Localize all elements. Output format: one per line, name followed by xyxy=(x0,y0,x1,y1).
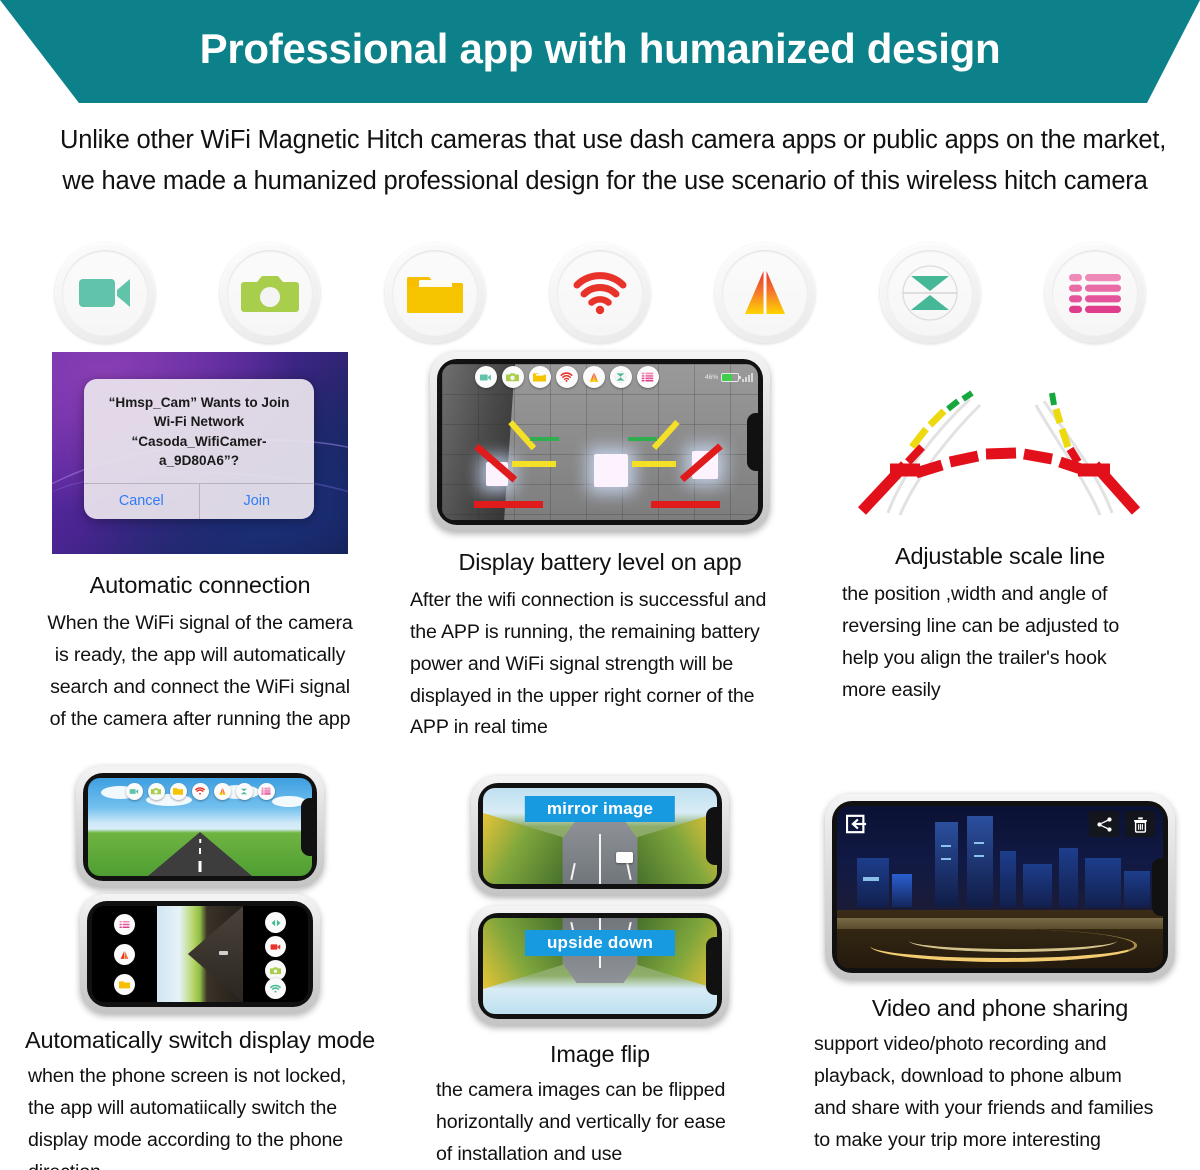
gallery-screen xyxy=(837,806,1163,968)
menu-settings-icon xyxy=(1067,271,1123,315)
mirror-flip-icon xyxy=(737,268,793,318)
intro-line-2: we have made a humanized professional de… xyxy=(60,161,1150,202)
phone-rotated-portrait-mode xyxy=(80,894,320,1014)
card-body-line: help you align the trailer's hook xyxy=(842,643,1200,675)
card-video-phone-sharing: Video and phone sharing support video/ph… xyxy=(800,766,1200,1170)
card-body-line: the APP is running, the remaining batter… xyxy=(410,617,800,649)
alert-line-2: Wi-Fi Network xyxy=(94,412,304,431)
menu-settings-icon-badge[interactable] xyxy=(1045,243,1145,343)
card-body-line: displayed in the upper right corner of t… xyxy=(410,681,800,713)
card-body-line: to make your trip more interesting xyxy=(814,1125,1200,1157)
intro-line-1: Unlike other WiFi Magnetic Hitch cameras… xyxy=(60,120,1150,161)
app-toolbar xyxy=(88,778,312,804)
feature-icon-row xyxy=(55,240,1145,346)
alert-buttons: Cancel Join xyxy=(84,483,314,519)
vertical-flip-icon-badge[interactable] xyxy=(236,783,253,800)
scale-line-green xyxy=(530,437,558,441)
card-title: Display battery level on app xyxy=(400,548,800,577)
join-button[interactable]: Join xyxy=(199,484,315,519)
card-body-line: playback, download to phone album xyxy=(814,1061,1200,1093)
center-marker xyxy=(219,951,228,955)
infographic-page: Professional app with humanized design U… xyxy=(0,0,1200,1170)
phone-side-notch xyxy=(706,937,722,995)
back-arrow-icon xyxy=(846,814,868,834)
card-body-line: search and connect the WiFi signal xyxy=(0,672,400,704)
trash-icon xyxy=(1133,816,1148,833)
card-automatic-connection: “Hmsp_Cam” Wants to Join Wi-Fi Network “… xyxy=(0,352,400,744)
vertical-flip-icon xyxy=(270,918,282,928)
phone-side-notch xyxy=(301,798,317,856)
photo-camera-icon xyxy=(506,372,519,382)
app-rotated-screen xyxy=(92,906,308,1002)
road-vee xyxy=(188,906,243,1002)
vertical-flip-icon xyxy=(899,265,961,321)
vertical-flip-icon xyxy=(614,371,627,383)
back-button[interactable] xyxy=(842,811,872,837)
menu-settings-icon xyxy=(641,372,654,382)
mirror-image-screen: mirror image xyxy=(483,788,717,884)
card-body-line: When the WiFi signal of the camera xyxy=(0,608,400,640)
card-body: When the WiFi signal of the camera is re… xyxy=(0,608,400,735)
upside-down-label: upside down xyxy=(525,930,675,956)
app-toolbar: 46% xyxy=(442,364,758,390)
menu-settings-icon-badge[interactable] xyxy=(637,366,659,388)
scale-line-green xyxy=(628,437,656,441)
phone-mirror-image: mirror image xyxy=(471,776,729,896)
card-body: the camera images can be flipped horizon… xyxy=(400,1075,800,1170)
mirror-flip-icon xyxy=(588,372,600,383)
mirror-flip-icon-badge[interactable] xyxy=(214,783,231,800)
scale-line-yellow xyxy=(512,461,556,467)
app-road-screen xyxy=(88,778,312,876)
photo-camera-icon xyxy=(241,271,299,315)
light-glare xyxy=(594,454,628,487)
alert-line-1: “Hmsp_Cam” Wants to Join xyxy=(94,393,304,412)
mirror-flip-icon xyxy=(119,950,130,960)
wifi-icon-badge[interactable] xyxy=(192,783,209,800)
photo-camera-icon-badge[interactable] xyxy=(502,366,524,388)
card-auto-switch-display-mode: Automatically switch display mode when t… xyxy=(0,766,400,1170)
upside-down-screen: upside down xyxy=(483,918,717,1014)
mirror-flip-icon-badge[interactable] xyxy=(715,243,815,343)
status-indicators: 46% xyxy=(705,372,758,382)
card-body-line: support video/photo recording and xyxy=(814,1029,1200,1061)
folder-icon-badge[interactable] xyxy=(114,974,135,995)
card-body-line: of installation and use xyxy=(436,1139,800,1170)
card-title: Automatically switch display mode xyxy=(0,1026,400,1055)
folder-icon-badge[interactable] xyxy=(170,783,187,800)
phone-upside-down-image: upside down xyxy=(471,906,729,1026)
battery-icon xyxy=(721,373,739,382)
battery-percent-label: 46% xyxy=(705,374,718,381)
page-title: Professional app with humanized design xyxy=(200,28,1001,70)
menu-settings-icon-badge[interactable] xyxy=(114,914,135,935)
card-adjustable-scale-line: Adjustable scale line the position ,widt… xyxy=(800,352,1200,744)
wifi-icon-badge[interactable] xyxy=(265,978,286,999)
app-camera-screen: 46% xyxy=(442,364,758,520)
wifi-join-screenshot: “Hmsp_Cam” Wants to Join Wi-Fi Network “… xyxy=(52,352,348,554)
bus xyxy=(616,852,633,863)
menu-settings-icon-badge[interactable] xyxy=(258,783,275,800)
folder-icon-badge[interactable] xyxy=(385,243,485,343)
folder-icon xyxy=(173,787,183,795)
card-body-line: reversing line can be adjusted to xyxy=(842,611,1200,643)
wifi-icon xyxy=(572,271,628,315)
cards-row-2: Automatically switch display mode when t… xyxy=(0,766,1200,1170)
rotated-layout xyxy=(92,906,308,1002)
video-record-icon xyxy=(270,943,281,951)
folder-icon xyxy=(533,372,546,382)
mirror-image-label: mirror image xyxy=(525,796,675,822)
alert-message: “Hmsp_Cam” Wants to Join Wi-Fi Network “… xyxy=(84,379,314,483)
wifi-icon-badge[interactable] xyxy=(550,243,650,343)
phone-side-notch xyxy=(706,807,722,865)
photo-camera-icon xyxy=(151,787,161,795)
share-button[interactable] xyxy=(1089,811,1119,837)
card-body-line: the app will automatiically switch the xyxy=(28,1093,400,1125)
rotated-camera-view xyxy=(157,906,243,1002)
scale-line-red xyxy=(651,501,721,508)
menu-settings-icon xyxy=(261,787,271,795)
folder-icon-badge[interactable] xyxy=(529,366,551,388)
folder-icon xyxy=(407,271,463,315)
phone-gallery-playback xyxy=(825,794,1175,980)
card-body: the position ,width and angle of reversi… xyxy=(800,579,1200,706)
vertical-flip-icon-badge[interactable] xyxy=(610,366,632,388)
card-title: Video and phone sharing xyxy=(800,994,1200,1023)
video-record-icon-badge[interactable] xyxy=(126,783,143,800)
phone-side-notch xyxy=(1152,858,1168,916)
card-body-line: the position ,width and angle of xyxy=(842,579,1200,611)
signal-bars-icon xyxy=(742,372,753,382)
video-record-icon-badge[interactable] xyxy=(475,366,497,388)
card-display-battery-level: 46% Display battery level on app After t… xyxy=(400,352,800,744)
mirror-flip-icon-badge[interactable] xyxy=(114,944,135,965)
card-body-line: more easily xyxy=(842,675,1200,707)
folder-icon xyxy=(119,980,130,989)
card-title: Adjustable scale line xyxy=(800,542,1200,571)
phone-camera-preview: 46% xyxy=(430,352,770,532)
wifi-icon xyxy=(270,984,281,993)
alert-line-3: “Casoda_WifiCamer- xyxy=(94,432,304,451)
card-title: Image flip xyxy=(400,1040,800,1069)
scale-line-red xyxy=(474,501,544,508)
cards-row-1: “Hmsp_Cam” Wants to Join Wi-Fi Network “… xyxy=(0,352,1200,744)
vertical-flip-icon-badge[interactable] xyxy=(265,912,286,933)
cancel-button[interactable]: Cancel xyxy=(84,484,199,519)
phone-landscape-road xyxy=(76,766,324,888)
photo-camera-icon xyxy=(270,966,281,975)
card-body-line: is ready, the app will automatically xyxy=(0,640,400,672)
video-record-icon-badge[interactable] xyxy=(55,243,155,343)
card-body-line: the camera images can be flipped xyxy=(436,1075,800,1107)
vertical-flip-icon xyxy=(239,787,249,796)
vertical-flip-icon-badge[interactable] xyxy=(880,243,980,343)
scale-line-diagram xyxy=(830,377,1170,527)
mirror-flip-icon-badge[interactable] xyxy=(583,366,605,388)
card-body-line: After the wifi connection is successful … xyxy=(410,585,800,617)
card-body-line: power and WiFi signal strength will be xyxy=(410,649,800,681)
share-icon xyxy=(1096,816,1113,833)
wifi-icon xyxy=(560,372,573,382)
mirror-flip-icon xyxy=(218,787,227,796)
ios-wifi-alert: “Hmsp_Cam” Wants to Join Wi-Fi Network “… xyxy=(84,379,314,519)
photo-camera-icon-badge[interactable] xyxy=(220,243,320,343)
delete-button[interactable] xyxy=(1125,811,1155,837)
right-controls xyxy=(243,906,308,1002)
card-body-line: APP in real time xyxy=(410,712,800,744)
card-body-line: direction xyxy=(28,1157,400,1170)
menu-settings-icon xyxy=(119,920,130,929)
card-image-flip: mirror image xyxy=(400,766,800,1170)
card-body: After the wifi connection is successful … xyxy=(400,585,800,744)
card-body: support video/photo recording and playba… xyxy=(800,1029,1200,1156)
feature-cards: “Hmsp_Cam” Wants to Join Wi-Fi Network “… xyxy=(0,352,1200,1170)
header-banner: Professional app with humanized design xyxy=(0,0,1200,103)
intro-paragraph: Unlike other WiFi Magnetic Hitch cameras… xyxy=(60,120,1150,203)
trees-left xyxy=(483,813,563,884)
video-record-icon xyxy=(77,272,133,314)
scale-line-yellow xyxy=(632,461,676,467)
card-body-line: when the phone screen is not locked, xyxy=(28,1061,400,1093)
alert-line-4: a_9D80A6”? xyxy=(94,451,304,470)
photo-camera-icon-badge[interactable] xyxy=(148,783,165,800)
card-body-line: display mode according to the phone xyxy=(28,1125,400,1157)
card-title: Automatic connection xyxy=(0,571,400,600)
left-controls xyxy=(92,906,157,1002)
card-body: when the phone screen is not locked, the… xyxy=(0,1061,400,1170)
phone-side-notch xyxy=(747,413,763,471)
card-body-line: and share with your friends and families xyxy=(814,1093,1200,1125)
card-body-line: of the camera after running the app xyxy=(0,704,400,736)
video-record-icon xyxy=(479,373,492,382)
wifi-icon xyxy=(195,787,205,795)
video-record-icon-badge[interactable] xyxy=(265,936,286,957)
video-record-icon xyxy=(129,788,139,795)
wifi-icon-badge[interactable] xyxy=(556,366,578,388)
card-body-line: horizontally and vertically for ease xyxy=(436,1107,800,1139)
